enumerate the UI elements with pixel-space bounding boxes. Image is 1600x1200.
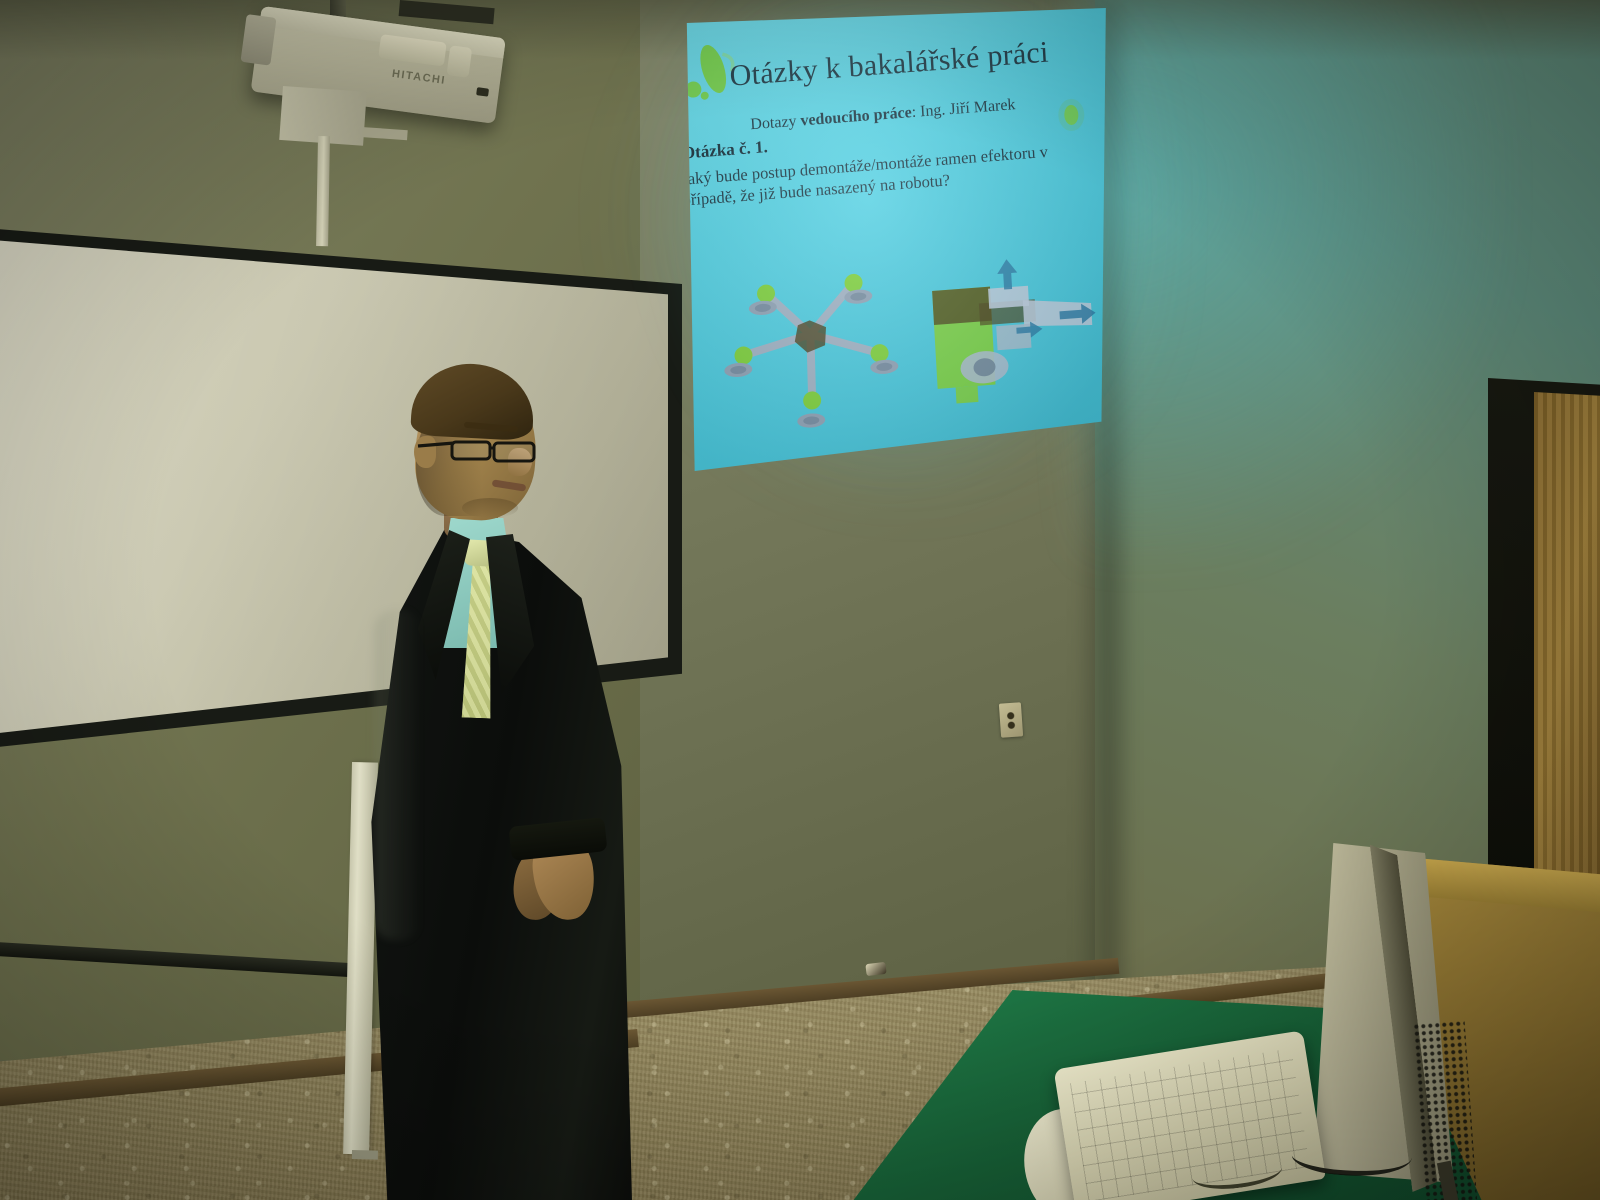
- slide-subtitle-bold: vedoucího práce: [800, 104, 912, 129]
- small-object-on-floor: [865, 962, 886, 976]
- slide-subtitle-prefix: Dotazy: [750, 113, 801, 134]
- slide-figure-effector: [701, 235, 920, 450]
- clasped-hands: [512, 826, 604, 936]
- chin-shadow: [462, 498, 518, 518]
- projector-ir-sensor-icon: [476, 87, 489, 97]
- slide-subtitle-suffix: : Ing. Jiří Marek: [911, 96, 1016, 121]
- jacket-sleeve-highlight: [374, 610, 422, 940]
- power-outlet-icon: [999, 702, 1023, 737]
- slide-title: Otázky k bakalářské práci: [729, 34, 1102, 93]
- projector-side-panel: [240, 14, 276, 66]
- door-panel[interactable]: [1534, 392, 1600, 932]
- classroom-photo-scene: HITACHI Otázky k bakalářské práci Dotazy…: [0, 0, 1600, 1200]
- slide-content: Otázky k bakalářské práci Dotazy vedoucí…: [672, 8, 1108, 478]
- slide-subtitle: Dotazy vedoucího práce: Ing. Jiří Marek: [750, 91, 1090, 135]
- eyeglasses-icon: [414, 434, 540, 468]
- projected-slide: Otázky k bakalářské práci Dotazy vedoucí…: [672, 8, 1108, 478]
- presenting-student: [352, 360, 652, 1200]
- projector-drop-pole: [316, 136, 330, 246]
- projector-focus-ring: [446, 45, 472, 78]
- slide-question-number: Otázka č. 1.: [681, 137, 768, 163]
- slide-figure-gripper: [921, 250, 1105, 413]
